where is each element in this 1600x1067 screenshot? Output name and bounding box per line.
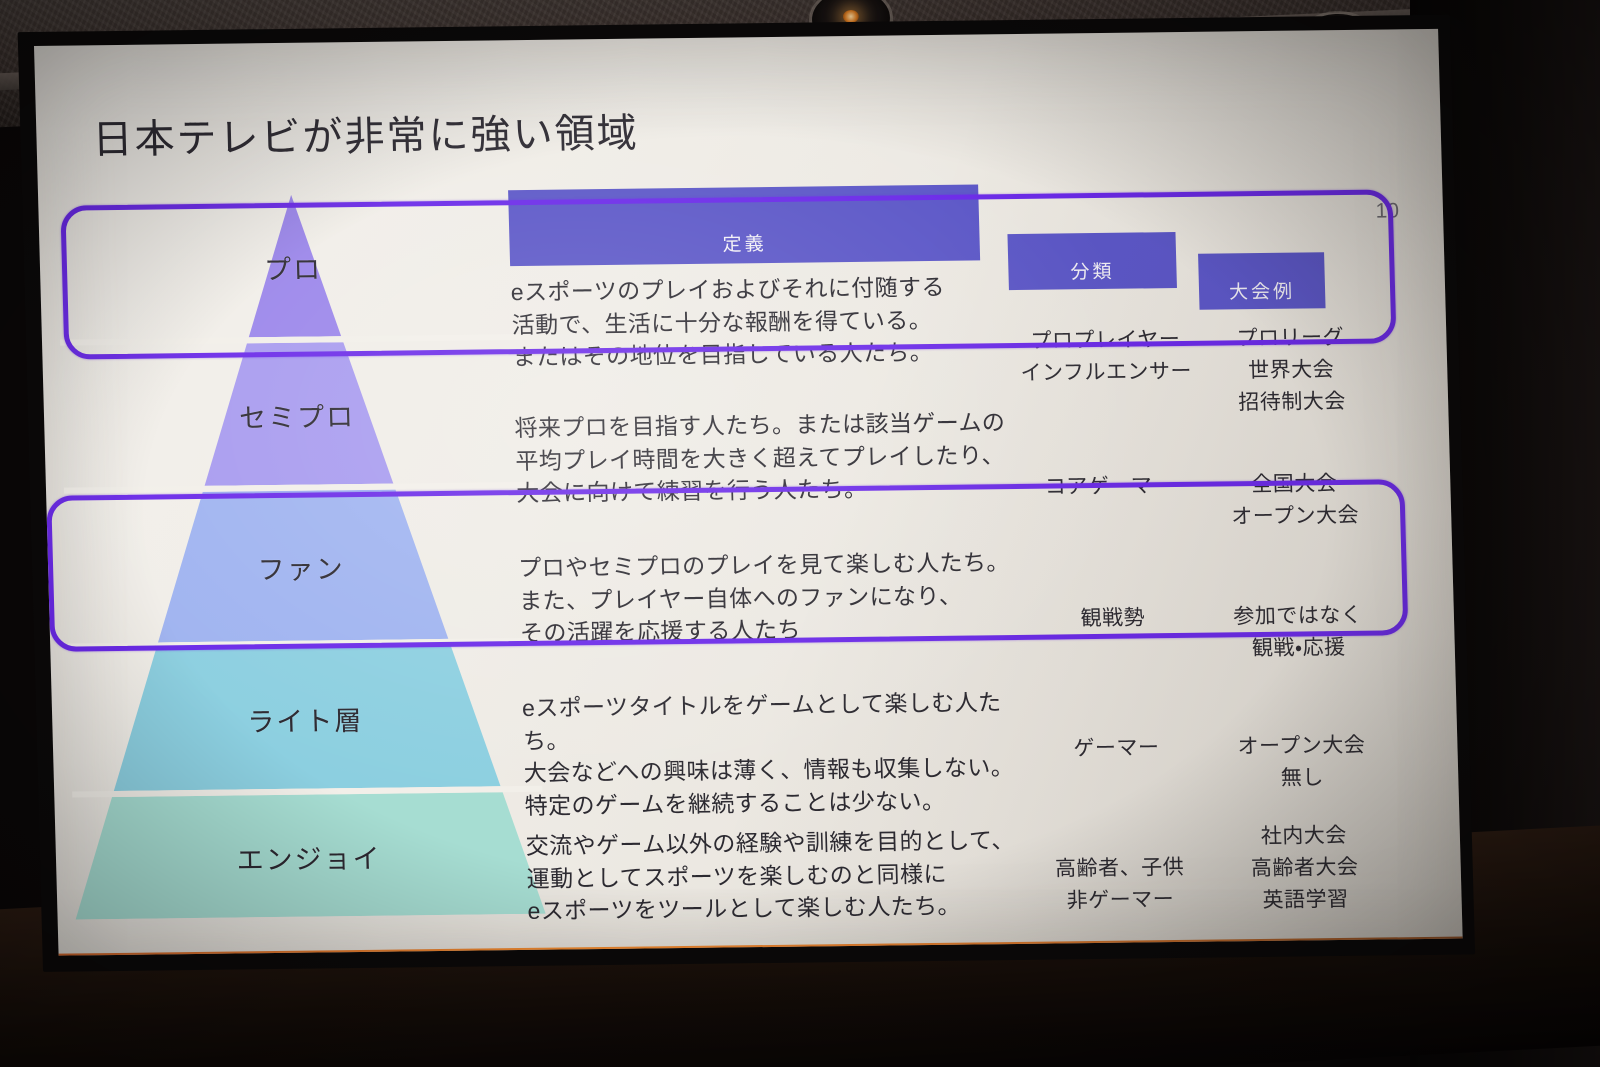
text-line: 英語学習: [1225, 883, 1386, 917]
text-line: 社内大会: [1223, 819, 1384, 853]
text-line: 平均プレイ時間を大きく超えてプレイしたり、: [515, 439, 1016, 478]
pyramid-tier-2: セミプロ: [60, 340, 534, 488]
cell-definition-エンジョイ: 交流やゲーム以外の経験や訓練を目的として、運動としてスポーツを楽しむのと同様にe…: [525, 824, 1028, 928]
page-title: 日本テレビが非常に強い領域: [92, 101, 640, 166]
text-line: 非ゲーマー: [1025, 883, 1216, 917]
pyramid-tier-5: エンジョイ: [72, 792, 545, 920]
cell-example-ライト層: オープン大会無し: [1221, 730, 1383, 796]
text-line: eスポーツタイトルをゲームとして楽しむ人たち。: [522, 686, 1024, 757]
cell-category-エンジョイ: 高齢者、子供非ゲーマー: [1024, 852, 1216, 918]
cell-definition-ライト層: eスポーツタイトルをゲームとして楽しむ人たち。大会などへの興味は薄く、情報も収集…: [522, 686, 1026, 823]
pyramid-tier-label: ライト層: [70, 697, 541, 742]
text-line: 高齢者、子供: [1024, 852, 1215, 886]
text-line: 無し: [1222, 761, 1383, 795]
screen-surface: 日本テレビが非常に強い領域 10 プロセミプロファンライト層エンジョイ 定義 分…: [34, 29, 1463, 956]
cell-example-エンジョイ: 社内大会高齢者大会英語学習: [1223, 819, 1386, 917]
pyramid-tier-label: セミプロ: [62, 393, 533, 438]
pyramid-tier-label: エンジョイ: [74, 835, 545, 880]
text-line: 大会などへの興味は薄く、情報も収集しない。: [523, 751, 1024, 790]
text-line: ゲーマー: [1021, 732, 1212, 766]
cell-category-ライト層: ゲーマー: [1021, 732, 1212, 766]
text-line: 高齢者大会: [1224, 851, 1385, 885]
pyramid-tier-4: ライト層: [68, 644, 542, 792]
projection-screen: 日本テレビが非常に強い領域 10 プロセミプロファンライト層エンジョイ 定義 分…: [34, 29, 1463, 956]
slide-canvas: 日本テレビが非常に強い領域 10 プロセミプロファンライト層エンジョイ 定義 分…: [34, 29, 1463, 956]
text-line: インフルエンサー: [1011, 356, 1202, 390]
text-line: 交流やゲーム以外の経験や訓練を目的として、: [525, 824, 1026, 863]
highlight-box-pro: [60, 189, 1396, 359]
text-line: オープン大会: [1221, 730, 1382, 764]
highlight-box-fan: [46, 479, 1408, 652]
text-line: 特定のゲームを継続することは少ない。: [524, 784, 1025, 823]
text-line: 招待制大会: [1212, 385, 1373, 419]
text-line: 世界大会: [1211, 354, 1372, 388]
text-line: eスポーツをツールとして楽しむ人たち。: [527, 889, 1028, 928]
